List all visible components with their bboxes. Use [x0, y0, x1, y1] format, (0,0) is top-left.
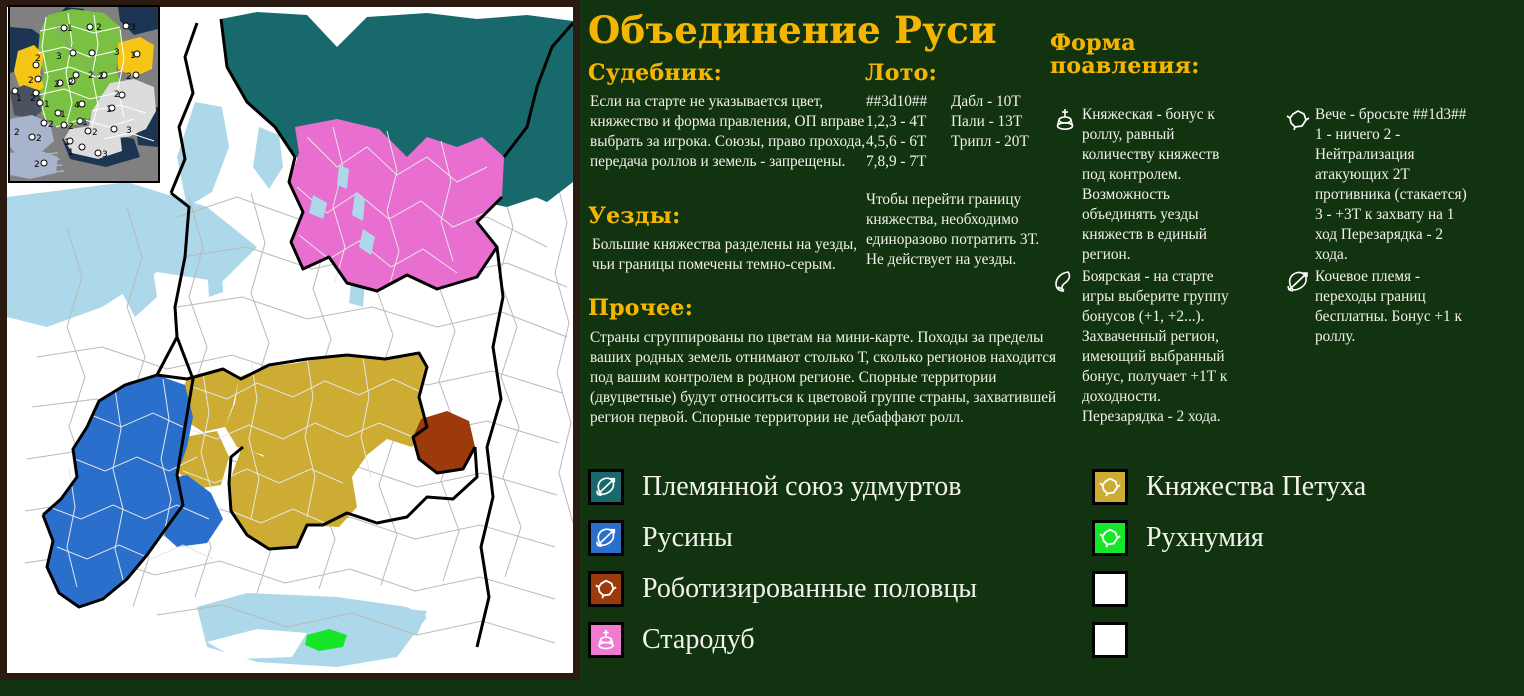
minimap[interactable]: 1 2 3 3 3 1 2 2 2 2 2 2 2 1 2 [8, 5, 160, 183]
loto-heading: Лото: [865, 62, 937, 85]
bell-icon [1098, 526, 1122, 550]
legend-swatch-ruhnumia[interactable] [1092, 520, 1128, 556]
map-frame: 1 2 3 3 3 1 2 2 2 2 2 2 2 1 2 [0, 0, 580, 680]
gov-veche-text: Вече - бросьте ##1d3## 1 - ничего 2 - Не… [1315, 105, 1475, 265]
legend-swatch-empty-1[interactable] [1092, 571, 1128, 607]
svg-text:2: 2 [35, 54, 41, 64]
svg-text:2: 2 [88, 71, 94, 81]
loto-note: Чтобы перейти границу княжества, необход… [866, 190, 1041, 270]
list-item: Русины [588, 513, 1098, 562]
list-item: Роботизированные половцы [588, 564, 1098, 613]
svg-text:2: 2 [98, 72, 104, 82]
svg-text:2: 2 [54, 80, 60, 90]
loto-cell-left: 4,5,6 - 6Т [866, 132, 951, 152]
svg-text:2: 2 [14, 128, 20, 138]
list-item: Княжеская - бонус к роллу, равный количе… [1052, 105, 1242, 265]
legend-label: Племянной союз удмуртов [642, 471, 962, 503]
svg-text:3: 3 [102, 150, 108, 160]
legend: Племянной союз удмуртов Русины [580, 462, 1524, 696]
bow-icon [1285, 267, 1315, 347]
list-item [1092, 564, 1522, 613]
prochee-body: Страны сгруппированы по цветам на мини-к… [590, 328, 1065, 428]
list-item: Стародуб [588, 615, 1098, 664]
svg-text:1: 1 [16, 94, 22, 104]
loto-cell-left: 7,8,9 - 7Т [866, 152, 951, 172]
bell-icon [1098, 475, 1122, 499]
loto-cell-right: Трипл - 20Т [951, 132, 1046, 152]
minimap-svg[interactable]: 1 2 3 3 3 1 2 2 2 2 2 2 2 1 2 [10, 7, 158, 181]
svg-text:4: 4 [74, 101, 80, 111]
sudebnik-heading: Судебник: [588, 62, 722, 85]
poster-root: 1 2 3 3 3 1 2 2 2 2 2 2 2 1 2 [0, 0, 1524, 696]
svg-text:2: 2 [28, 76, 34, 86]
legend-swatch-empty-2[interactable] [1092, 622, 1128, 658]
legend-swatch-starodub[interactable] [588, 622, 624, 658]
table-row: 4,5,6 - 6Т Трипл - 20Т [866, 132, 1046, 152]
svg-text:1: 1 [44, 100, 50, 110]
loto-cell-left: ##3d10## [866, 92, 951, 112]
legend-label: Стародуб [642, 624, 755, 656]
forma-heading: Форма поавления: [1050, 32, 1220, 78]
uezdy-body: Большие княжества разделены на уезды, чь… [592, 235, 862, 275]
svg-text:3: 3 [114, 48, 120, 58]
bow-icon [594, 526, 618, 550]
legend-swatch-udmurty[interactable] [588, 469, 624, 505]
legend-swatch-petuha[interactable] [1092, 469, 1128, 505]
list-item: Вече - бросьте ##1d3## 1 - ничего 2 - Не… [1285, 105, 1475, 265]
church-icon [1052, 105, 1082, 265]
info-panel: Объединение Руси Судебник: Если на старт… [580, 0, 1524, 696]
svg-text:3: 3 [126, 126, 132, 136]
table-row: 7,8,9 - 7Т [866, 152, 1046, 172]
table-row: ##3d10## Дабл - 10Т [866, 92, 1046, 112]
legend-label: Рухнумия [1146, 522, 1264, 554]
loto-cell-left: 1,2,3 - 4Т [866, 112, 951, 132]
svg-text:2: 2 [114, 90, 120, 100]
svg-text:2: 2 [96, 23, 102, 33]
svg-text:2: 2 [34, 160, 40, 170]
bell-icon [594, 577, 618, 601]
legend-label: Княжества Петуха [1146, 471, 1366, 503]
svg-text:2: 2 [36, 134, 42, 144]
forma-right-column: Вече - бросьте ##1d3## 1 - ничего 2 - Не… [1285, 105, 1475, 349]
loto-table: ##3d10## Дабл - 10Т 1,2,3 - 4Т Пали - 13… [866, 92, 1046, 172]
sudebnik-body: Если на старте не указывается цвет, княж… [590, 92, 870, 172]
svg-text:2: 2 [30, 94, 36, 104]
legend-swatch-polovtsy[interactable] [588, 571, 624, 607]
svg-text:1: 1 [106, 105, 112, 115]
svg-text:1: 1 [60, 110, 66, 120]
forma-left-column: Княжеская - бонус к роллу, равный количе… [1052, 105, 1242, 430]
list-item [1092, 615, 1522, 664]
list-item: Рухнумия [1092, 513, 1522, 562]
bell-icon [1285, 105, 1315, 265]
svg-text:1: 1 [67, 24, 73, 34]
legend-right-column: Княжества Петуха Рухнумия [1092, 462, 1522, 666]
list-item: Боярская - на старте игры выберите групп… [1052, 267, 1242, 427]
svg-text:2: 2 [68, 78, 74, 88]
list-item: Племянной союз удмуртов [588, 462, 1098, 511]
svg-text:3: 3 [56, 52, 62, 62]
svg-text:2: 2 [126, 72, 132, 82]
svg-text:2: 2 [92, 128, 98, 138]
page-title: Объединение Руси [588, 11, 997, 49]
legend-left-column: Племянной союз удмуртов Русины [588, 462, 1098, 666]
uezdy-heading: Уезды: [588, 205, 681, 228]
legend-label: Русины [642, 522, 733, 554]
list-item: Кочевое племя - переходы границ бесплатн… [1285, 267, 1475, 347]
prochee-heading: Прочее: [588, 297, 693, 320]
legend-label: Роботизированные половцы [642, 573, 977, 605]
legend-swatch-rusiny[interactable] [588, 520, 624, 556]
loto-cell-right: Пали - 13Т [951, 112, 1046, 132]
bow-icon [594, 475, 618, 499]
svg-text:2: 2 [48, 120, 54, 130]
gov-kochevoe-text: Кочевое племя - переходы границ бесплатн… [1315, 267, 1475, 347]
scroll-icon [1052, 267, 1082, 427]
gov-knyazheskaya-text: Княжеская - бонус к роллу, равный количе… [1082, 105, 1242, 265]
loto-cell-right: Дабл - 10Т [951, 92, 1046, 112]
gov-boyarskaya-text: Боярская - на старте игры выберите групп… [1082, 267, 1242, 427]
svg-text:1: 1 [68, 148, 74, 158]
svg-text:1: 1 [130, 51, 136, 61]
church-icon [594, 628, 618, 652]
svg-text:1: 1 [64, 138, 70, 148]
table-row: 1,2,3 - 4Т Пали - 13Т [866, 112, 1046, 132]
svg-text:2: 2 [68, 122, 74, 132]
svg-text:3: 3 [130, 23, 136, 33]
loto-cell-right [951, 152, 1046, 172]
svg-text:1: 1 [82, 118, 88, 128]
list-item: Княжества Петуха [1092, 462, 1522, 511]
